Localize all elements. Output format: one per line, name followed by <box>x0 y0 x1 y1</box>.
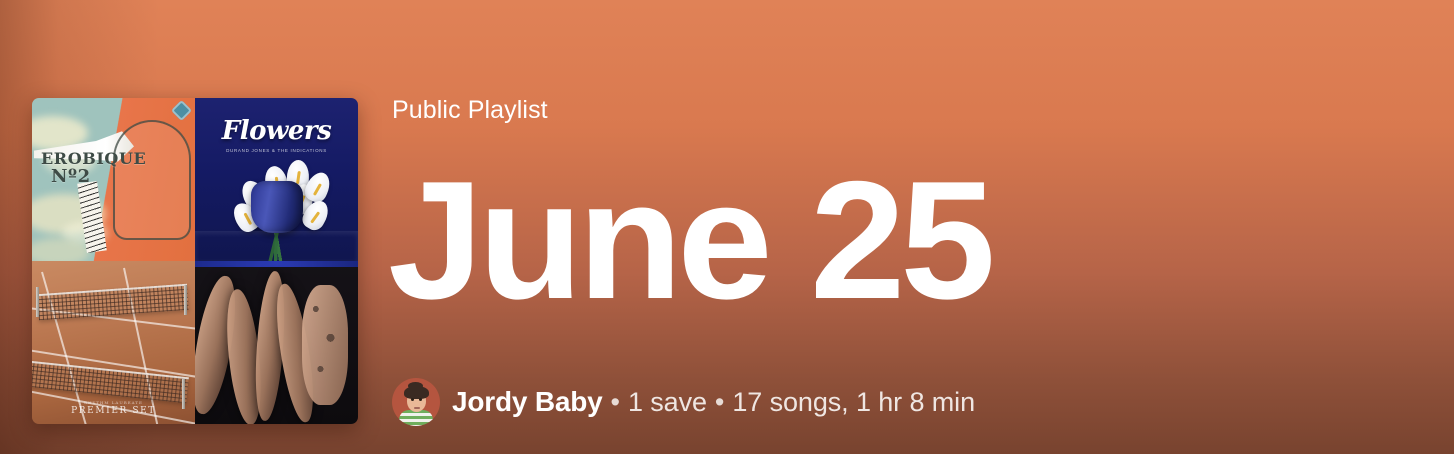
song-count-and-duration: 17 songs, 1 hr 8 min <box>732 387 975 418</box>
meta-separator: • <box>603 387 628 418</box>
album-caption-text: PREMIER SET <box>71 406 156 416</box>
album-title-text: EROBIQUE <box>41 149 146 168</box>
avatar-eyebrow <box>410 395 415 397</box>
avatar-hair <box>404 386 429 399</box>
save-count: 1 save <box>628 387 707 418</box>
blue-band <box>195 261 358 267</box>
tattooed-limb <box>302 285 348 405</box>
album-wordmark: EROBIQUE Nº2 <box>41 150 146 187</box>
album-subtitle-text: DURAND JONES & THE INDICATIONS <box>195 148 358 153</box>
playlist-hero-banner: EROBIQUE Nº2 Flowers DURAND JONES & THE … <box>0 0 1454 454</box>
album-art-premier-set: RHYTHM LAUREATE PREMIER SET <box>32 261 195 424</box>
net-post <box>36 287 39 317</box>
label-badge-icon <box>171 100 192 121</box>
tennis-net <box>37 284 188 320</box>
avatar-eye <box>419 398 422 401</box>
album-title-text: Flowers <box>195 116 358 146</box>
page-title[interactable]: June 25 <box>388 156 990 324</box>
net-post <box>184 285 187 315</box>
playlist-cover-collage[interactable]: EROBIQUE Nº2 Flowers DURAND JONES & THE … <box>32 98 358 424</box>
album-art-flowers: Flowers DURAND JONES & THE INDICATIONS <box>195 98 358 261</box>
vase-illustration <box>251 181 303 233</box>
table-surface <box>195 231 358 261</box>
album-caption-sup: RHYTHM LAUREATE <box>32 400 195 405</box>
playlist-meta-row: Jordy Baby • 1 save • 17 songs, 1 hr 8 m… <box>392 378 975 426</box>
album-caption: RHYTHM LAUREATE PREMIER SET <box>32 400 195 416</box>
avatar-eyebrow <box>418 395 423 397</box>
avatar-shirt <box>399 410 433 426</box>
owner-name-link[interactable]: Jordy Baby <box>452 386 603 418</box>
avatar[interactable] <box>392 378 440 426</box>
cloud-shape <box>32 238 90 261</box>
avatar-mouth <box>414 407 420 409</box>
album-art-limbs <box>195 261 358 424</box>
album-subtitle-text: Nº2 <box>41 167 146 186</box>
album-art-erobique: EROBIQUE Nº2 <box>32 98 195 261</box>
meta-separator: • <box>707 387 732 418</box>
avatar-eye <box>411 398 414 401</box>
playlist-type-label: Public Playlist <box>392 96 548 125</box>
